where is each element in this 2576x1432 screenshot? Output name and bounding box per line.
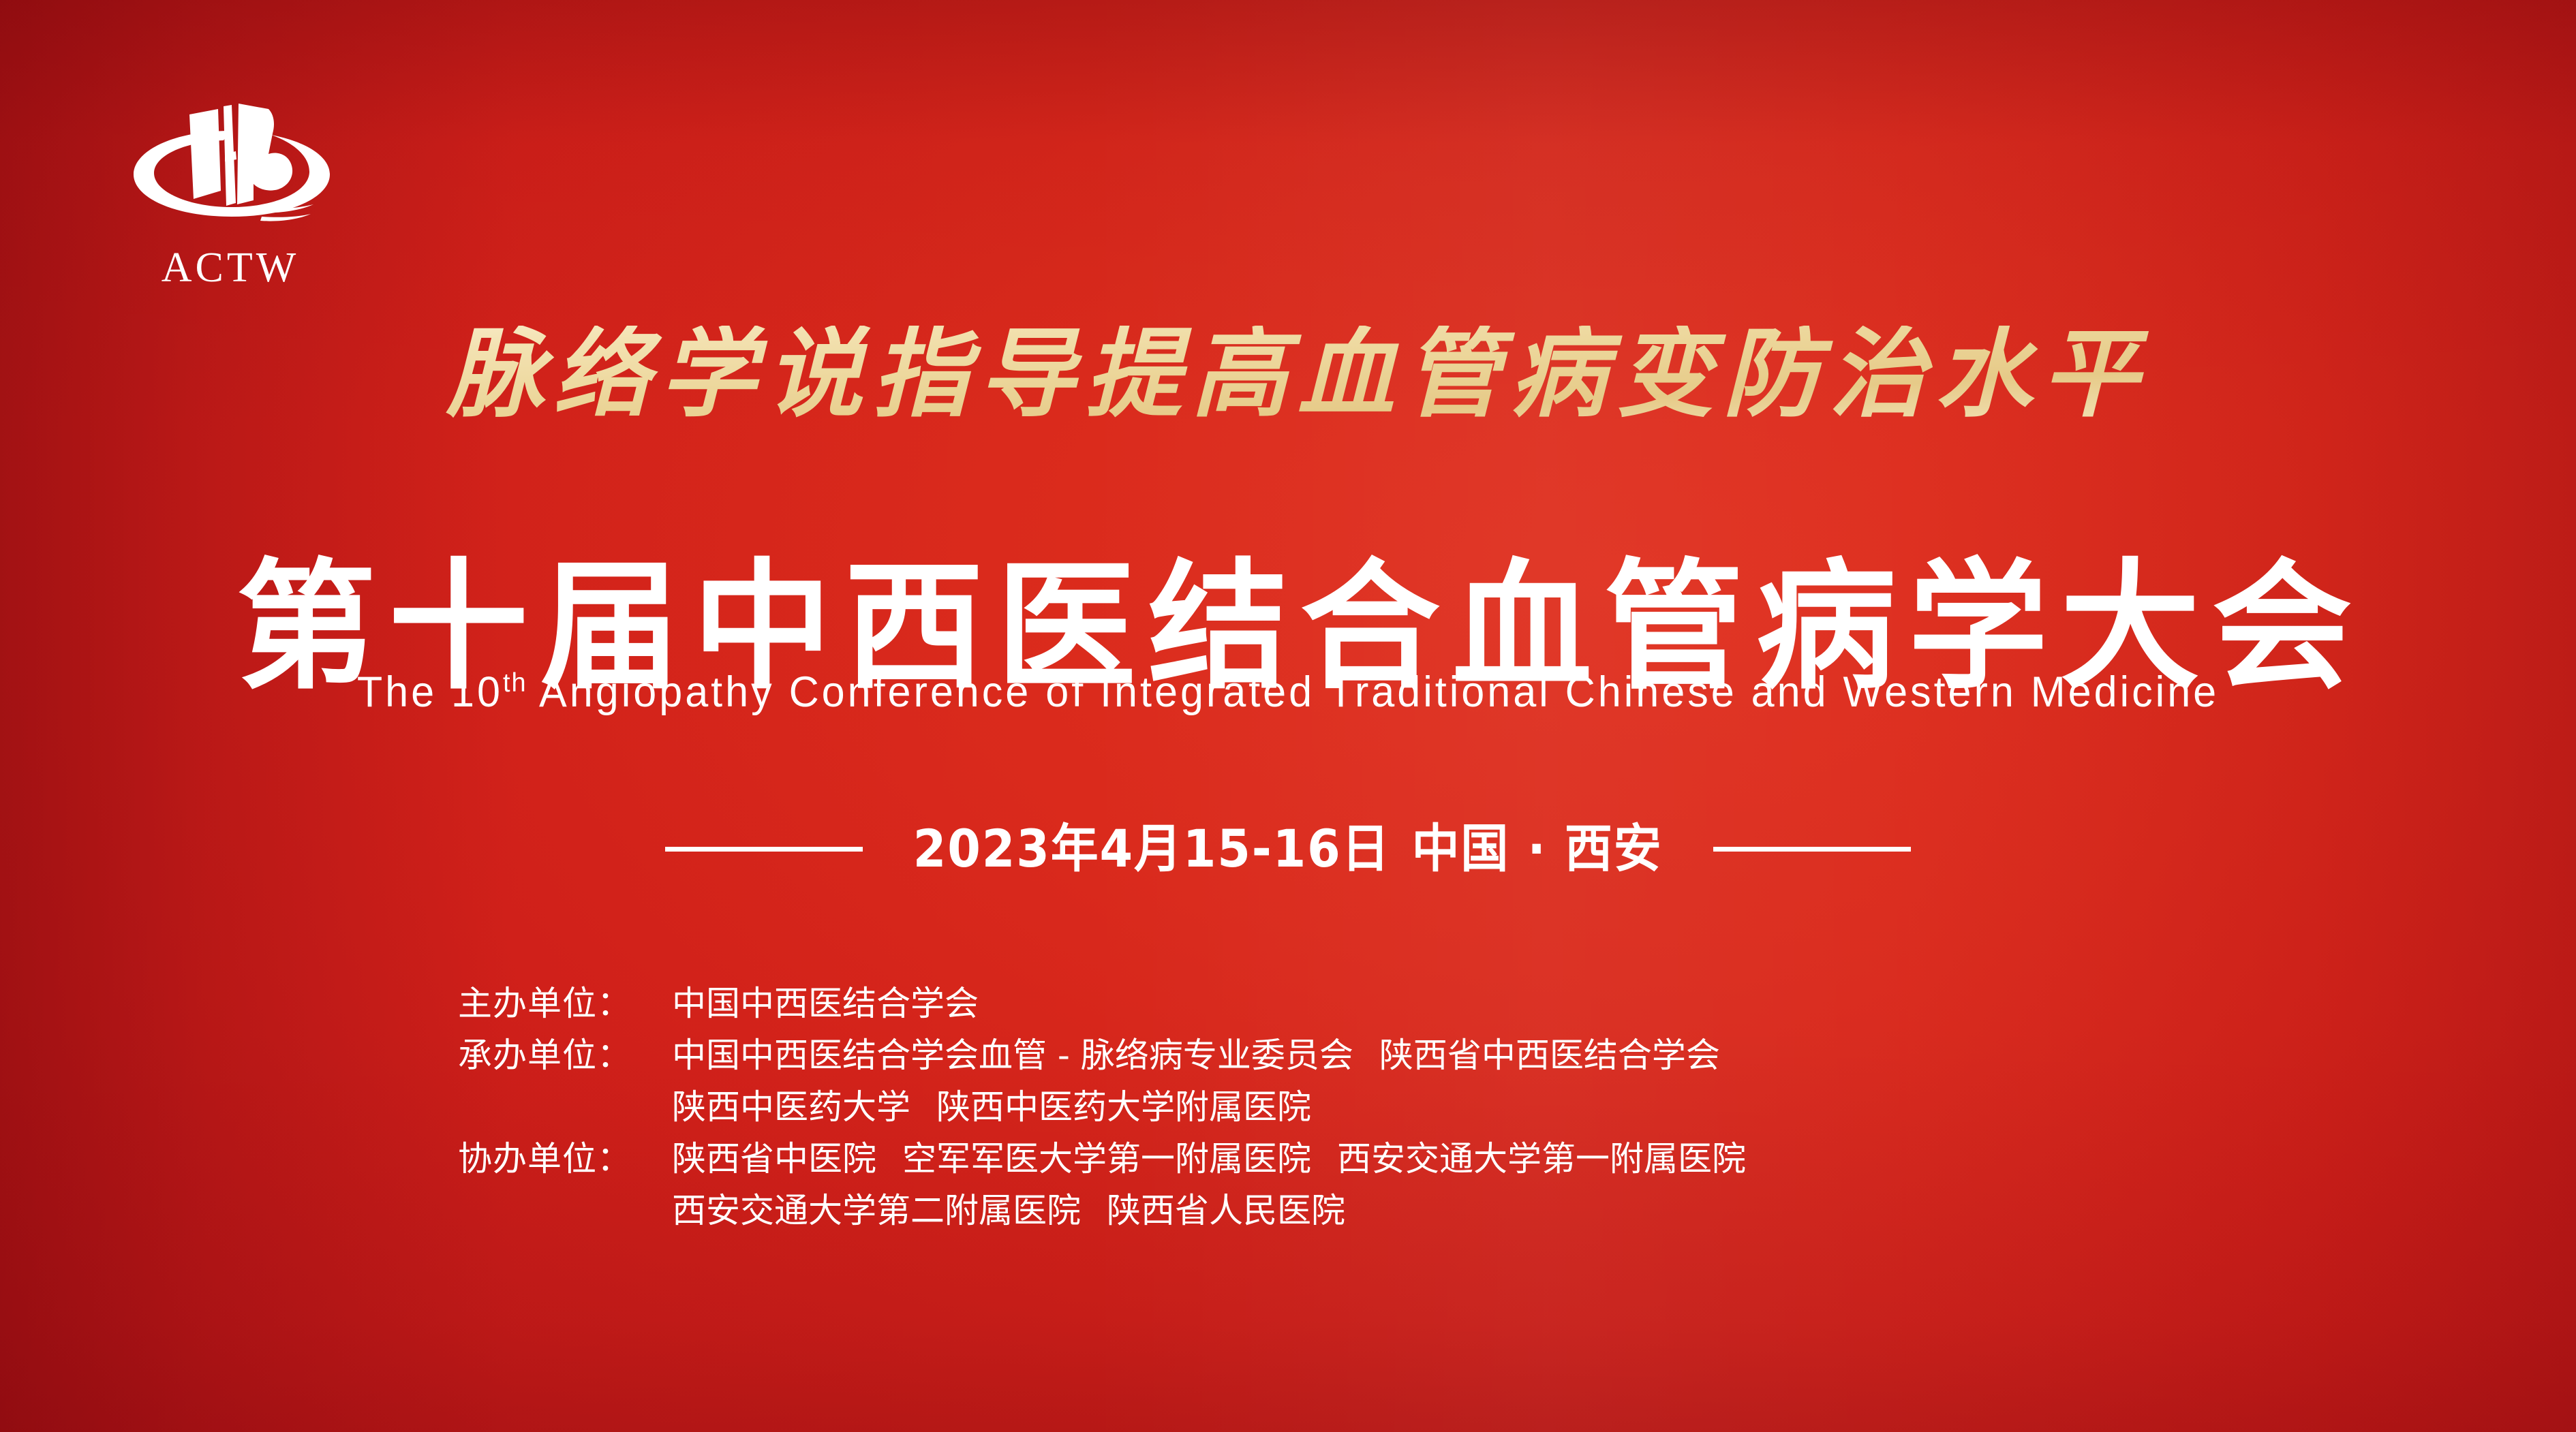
rule-right — [1713, 847, 1911, 852]
actw-emblem-icon — [128, 89, 333, 245]
organizer-name: 陕西中医药大学 — [672, 1087, 910, 1127]
organizer-name: 中国中西医结合学会血管 - 脉络病专业委员会 — [672, 1036, 1353, 1075]
date-location-text: 2023年4月15-16日中国 · 西安 — [913, 823, 1663, 875]
subtitle-ordinal: th — [503, 668, 527, 698]
organizer-line: 陕西省中医院空军军医大学第一附属医院西安交通大学第一附属医院 — [672, 1142, 1746, 1176]
organizer-values: 陕西省中医院空军军医大学第一附属医院西安交通大学第一附属医院西安交通大学第二附属… — [672, 1142, 1746, 1228]
organizer-line: 中国中西医结合学会 — [672, 986, 979, 1021]
tagline-calligraphy: 脉络学说指导提高血管病变防治水平 — [0, 326, 2576, 422]
conference-location: 中国 · 西安 — [1412, 818, 1663, 879]
organizer-name: 西安交通大学第一附属医院 — [1337, 1139, 1746, 1179]
organizer-name: 中国中西医结合学会 — [672, 984, 979, 1023]
organizer-row: 协办单位：陕西省中医院空军军医大学第一附属医院西安交通大学第一附属医院西安交通大… — [458, 1142, 1746, 1228]
logo-block: ACTW — [128, 89, 360, 289]
organizer-name: 空军军医大学第一附属医院 — [902, 1139, 1311, 1179]
date-location-bar: 2023年4月15-16日中国 · 西安 — [0, 823, 2576, 875]
english-subtitle: The 10th Angiopathy Conference of Integr… — [39, 671, 2538, 714]
organizer-label: 承办单位： — [458, 1038, 672, 1072]
organizer-name: 陕西省人民医院 — [1107, 1191, 1345, 1230]
subtitle-before: The 10 — [357, 668, 503, 716]
organizer-label: 主办单位： — [458, 986, 672, 1021]
rule-left — [665, 847, 863, 852]
organizer-name: 西安交通大学第二附属医院 — [672, 1191, 1081, 1230]
organizer-row: 主办单位：中国中西医结合学会 — [458, 986, 1746, 1021]
organizer-name: 陕西中医药大学附属医院 — [936, 1087, 1311, 1127]
logo-wordmark: ACTW — [128, 247, 333, 289]
conference-banner: ACTW 脉络学说指导提高血管病变防治水平 第十届中西医结合血管病学大会 The… — [0, 0, 2576, 1432]
organizer-name: 陕西省中医院 — [672, 1139, 876, 1179]
organizer-label: 协办单位： — [458, 1142, 672, 1176]
organizer-block: 主办单位：中国中西医结合学会承办单位：中国中西医结合学会血管 - 脉络病专业委员… — [458, 986, 1746, 1245]
organizer-line: 西安交通大学第二附属医院陕西省人民医院 — [672, 1194, 1746, 1228]
organizer-name: 陕西省中西医结合学会 — [1379, 1036, 1720, 1075]
conference-date: 2023年4月15-16日 — [913, 818, 1391, 879]
organizer-values: 中国中西医结合学会血管 - 脉络病专业委员会陕西省中西医结合学会陕西中医药大学陕… — [672, 1038, 1720, 1124]
subtitle-after: Angiopathy Conference of Integrated Trad… — [527, 668, 2219, 716]
organizer-values: 中国中西医结合学会 — [672, 986, 979, 1021]
organizer-line: 中国中西医结合学会血管 - 脉络病专业委员会陕西省中西医结合学会 — [672, 1038, 1720, 1072]
organizer-line: 陕西中医药大学陕西中医药大学附属医院 — [672, 1090, 1720, 1124]
organizer-row: 承办单位：中国中西医结合学会血管 - 脉络病专业委员会陕西省中西医结合学会陕西中… — [458, 1038, 1746, 1124]
